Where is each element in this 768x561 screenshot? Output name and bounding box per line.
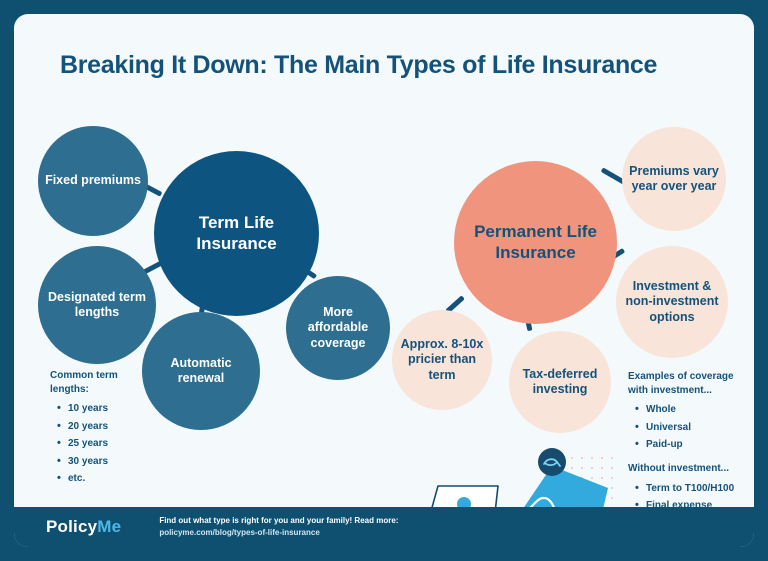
permanent-satellite-approx-pricier[interactable]: Approx. 8-10x pricier than term <box>392 310 492 410</box>
footer-url-link[interactable]: policyme.com/blog/types-of-life-insuranc… <box>159 527 398 539</box>
permanent-satellite-label: Investment & non-investment options <box>616 279 728 325</box>
permanent-satellite-label: Tax-deferred investing <box>509 367 611 398</box>
term-life-insurance-hub[interactable]: Term Life Insurance <box>154 151 319 316</box>
term-satellite-label: More affordable coverage <box>286 305 390 351</box>
list-item: Universal <box>646 421 746 435</box>
footer-cta-text: Find out what type is right for you and … <box>159 515 398 527</box>
note-heading: Common term lengths: <box>50 369 150 396</box>
footer-cta-block: Find out what type is right for you and … <box>159 515 398 539</box>
page-title: Breaking It Down: The Main Types of Life… <box>60 52 720 80</box>
list-item: etc. <box>68 472 150 486</box>
term-hub-label: Term Life Insurance <box>154 213 319 254</box>
term-satellite-more-affordable-coverage[interactable]: More affordable coverage <box>286 276 390 380</box>
badge-circle <box>538 448 566 476</box>
term-satellite-designated-term-lengths[interactable]: Designated term lengths <box>38 246 156 364</box>
list-item: 25 years <box>68 437 150 451</box>
permanent-satellite-investment-options[interactable]: Investment & non-investment options <box>616 246 728 358</box>
permanent-hub-label: Permanent Life Insurance <box>454 222 617 263</box>
common-term-lengths-note: Common term lengths: 10 years 20 years 2… <box>50 369 150 490</box>
permanent-life-insurance-hub[interactable]: Permanent Life Insurance <box>454 161 617 324</box>
permanent-satellite-label: Approx. 8-10x pricier than term <box>392 337 492 383</box>
footer-bar: PolicyMe Find out what type is right for… <box>14 507 754 547</box>
permanent-satellite-label: Premiums vary year over year <box>622 164 726 195</box>
term-satellite-label: Fixed premiums <box>39 173 147 188</box>
list-item: Paid-up <box>646 438 746 452</box>
term-satellite-label: Automatic renewal <box>142 356 260 387</box>
infographic-card: Breaking It Down: The Main Types of Life… <box>14 14 754 547</box>
list-item: 20 years <box>68 420 150 434</box>
list-item: 10 years <box>68 402 150 416</box>
list-item: 30 years <box>68 455 150 469</box>
note-heading: Without investment... <box>628 462 750 476</box>
infographic-root: Breaking It Down: The Main Types of Life… <box>0 0 768 561</box>
permanent-satellite-tax-deferred-investing[interactable]: Tax-deferred investing <box>509 331 611 433</box>
logo-accent-text: Me <box>97 517 121 536</box>
term-satellite-fixed-premiums[interactable]: Fixed premiums <box>38 126 148 236</box>
term-satellite-automatic-renewal[interactable]: Automatic renewal <box>142 312 260 430</box>
permanent-satellite-premiums-vary[interactable]: Premiums vary year over year <box>622 127 726 231</box>
with-investment-list: Whole Universal Paid-up <box>628 403 746 452</box>
term-satellite-label: Designated term lengths <box>38 290 156 321</box>
list-item: Whole <box>646 403 746 417</box>
policyme-logo[interactable]: PolicyMe <box>46 517 121 537</box>
common-term-lengths-list: 10 years 20 years 25 years 30 years etc. <box>50 402 150 486</box>
examples-with-investment-note: Examples of coverage with investment... … <box>628 370 746 456</box>
logo-primary-text: Policy <box>46 517 97 536</box>
list-item: Term to T100/H100 <box>646 482 750 496</box>
note-heading: Examples of coverage with investment... <box>628 370 746 397</box>
